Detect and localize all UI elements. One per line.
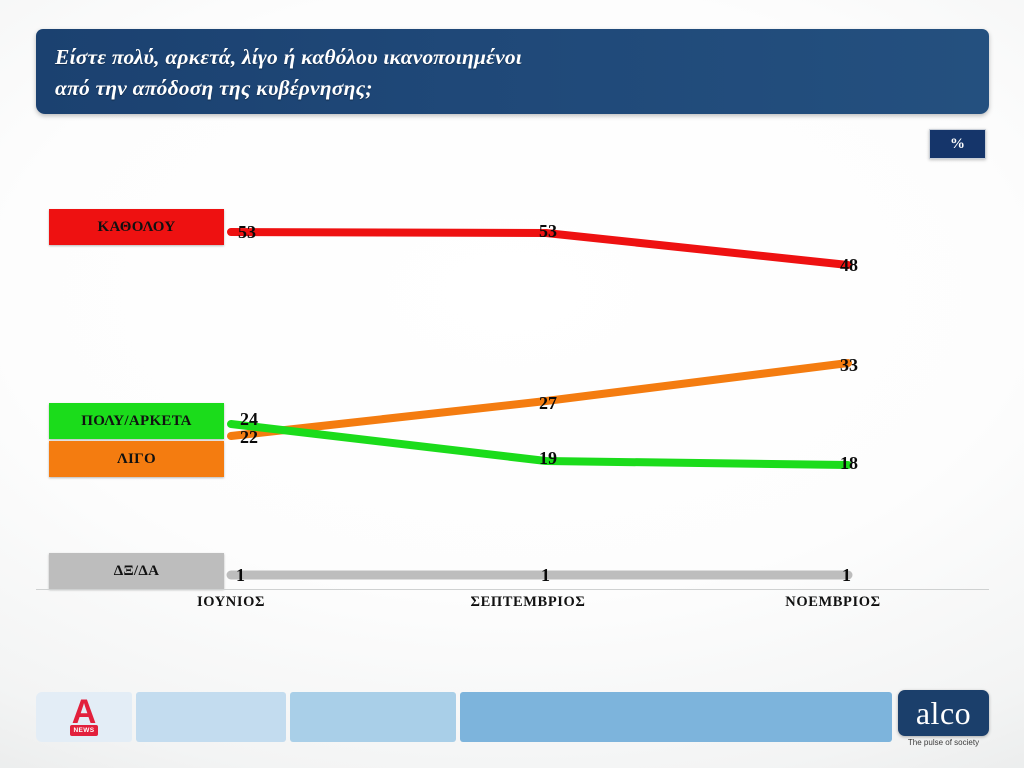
value-label-ligo-noemvrios: 33 [840,355,858,376]
footer-accent-bar-2 [136,692,286,742]
question-title-line-2: από την απόδοση της κυβέρνησης; [55,73,989,104]
value-label-poly-arketa-noemvrios: 18 [840,453,858,474]
footer-logo-cell: A NEWS [36,692,132,742]
x-axis-tick-iounios: ΙΟΥΝΙΟΣ [197,594,265,611]
percent-unit-badge: % [929,129,986,159]
alco-logo-text: alco [916,697,971,729]
value-label-poly-arketa-septemvrios: 19 [539,448,557,469]
alpha-logo-news-tag: NEWS [70,725,98,736]
legend-chip-ligo[interactable]: ΛΙΓΟ [49,441,224,477]
legend-chip-dx-da[interactable]: ΔΞ/ΔΑ [49,553,224,589]
legend-label-poly-arketa: ΠΟΛΥ/ΑΡΚΕΤΑ [81,413,191,430]
value-label-ligo-iounios: 22 [240,427,258,448]
footer-accent-bar-3 [290,692,456,742]
footer-accent-bar-4 [460,692,892,742]
value-label-ligo-septemvrios: 27 [539,393,557,414]
value-label-katholou-noemvrios: 48 [840,255,858,276]
value-label-dx-da-iounios: 1 [236,565,245,586]
legend-label-dx-da: ΔΞ/ΔΑ [114,563,159,580]
value-label-katholou-septemvrios: 53 [539,221,557,242]
legend-chip-katholou[interactable]: ΚΑΘΟΛΟΥ [49,209,224,245]
alco-tagline: The pulse of society [898,738,989,747]
question-title-bar: Είστε πολύ, αρκετά, λίγο ή καθόλου ικανο… [36,29,989,114]
x-axis-line [36,589,989,590]
legend-chip-poly-arketa[interactable]: ΠΟΛΥ/ΑΡΚΕΤΑ [49,403,224,439]
x-axis-tick-noemvrios: ΝΟΕΜΒΡΙΟΣ [785,594,880,611]
question-title-line-1: Είστε πολύ, αρκετά, λίγο ή καθόλου ικανο… [55,42,989,73]
alpha-logo-letter: A [67,697,101,728]
value-label-dx-da-septemvrios: 1 [541,565,550,586]
line-chart-plot [0,0,1024,768]
legend-label-katholou: ΚΑΘΟΛΟΥ [98,219,176,236]
alpha-news-logo-icon: A NEWS [67,697,101,737]
legend-label-ligo: ΛΙΓΟ [117,451,156,468]
value-label-katholou-iounios: 53 [238,222,256,243]
slide-canvas: Είστε πολύ, αρκετά, λίγο ή καθόλου ικανο… [0,0,1024,768]
x-axis-tick-septemvrios: ΣΕΠΤΕΜΒΡΙΟΣ [471,594,586,611]
value-label-dx-da-noemvrios: 1 [842,565,851,586]
alco-logo: alco [898,690,989,736]
footer-bar: A NEWS alco The pulse of society [36,692,989,742]
